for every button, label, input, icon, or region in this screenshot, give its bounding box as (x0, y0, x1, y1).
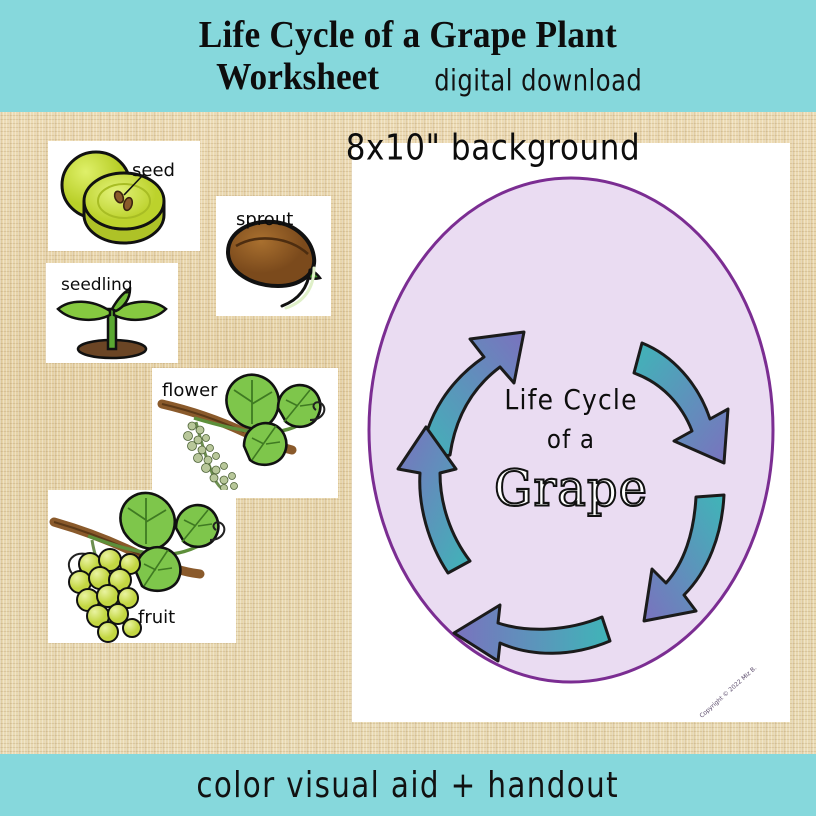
card-seed: seed (48, 141, 200, 251)
card-flower-label: flower (162, 380, 218, 401)
footer-text: color visual aid + handout (197, 764, 620, 806)
card-fruit: fruit (48, 490, 236, 643)
card-seed-label: seed (132, 160, 175, 181)
bottom-banner: color visual aid + handout (0, 754, 816, 816)
card-seedling-label: seedling (61, 275, 133, 295)
poster-panel: Life Cycle of a Grape Copyright © 2022 M… (352, 143, 790, 722)
subtitle-digital-download: digital download (435, 63, 643, 97)
card-sprout: sprout (216, 196, 331, 316)
top-banner: Life Cycle of a Grape Plant Worksheet di… (0, 0, 816, 112)
card-fruit-label: fruit (138, 607, 175, 628)
life-cycle-diagram (352, 143, 790, 722)
title-row-second: Worksheet digital download (0, 57, 816, 97)
seed-illustration (48, 141, 200, 251)
card-flower: flower (152, 368, 338, 498)
page-title-line1: Life Cycle of a Grape Plant (199, 15, 617, 55)
page-title-line2: Worksheet (216, 57, 379, 97)
worksheet-listing-image: Life Cycle of a Grape Plant Worksheet di… (0, 0, 816, 816)
card-seedling: seedling (46, 263, 178, 363)
card-sprout-label: sprout (236, 209, 293, 230)
